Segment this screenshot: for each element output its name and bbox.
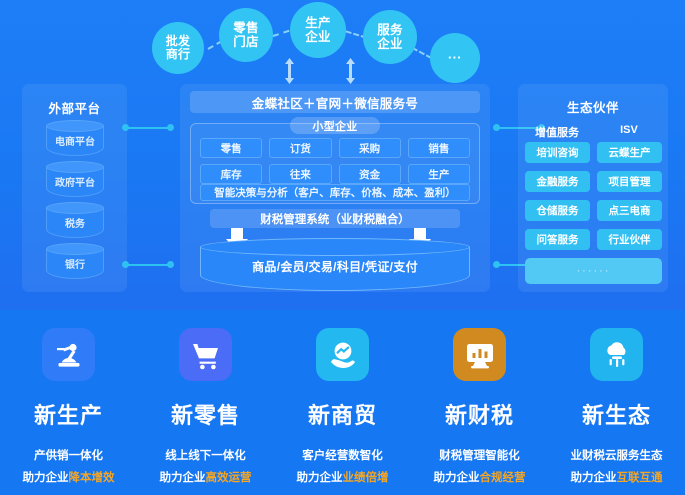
community-header-bar[interactable]: 金蝶社区＋官网＋微信服务号 xyxy=(190,91,480,113)
card-title: 新财税 xyxy=(445,398,514,430)
platform-item-tax[interactable]: 税务 xyxy=(46,202,104,242)
card-subtitle-2-highlight: 降本增效 xyxy=(69,472,115,484)
card-subtitle-2: 助力企业合规经营 xyxy=(434,469,526,485)
card-title: 新商贸 xyxy=(308,398,377,430)
partner-warehouse-service[interactable]: 仓储服务 xyxy=(525,200,590,221)
external-platform-title: 外部平台 xyxy=(22,98,127,117)
card-new-production[interactable]: 新生产 产供销一体化 助力企业降本增效 xyxy=(0,310,137,495)
column-header-isv: ISV xyxy=(594,124,664,136)
card-subtitle-2-prefix: 助力企业 xyxy=(160,472,206,484)
module-grid: 零售 订货 采购 销售 库存 往来 资金 生产 xyxy=(200,138,470,184)
card-new-finance-tax[interactable]: 新财税 财税管理智能化 助力企业合规经营 xyxy=(411,310,548,495)
partner-qa-service[interactable]: 问答服务 xyxy=(525,229,590,250)
isv-yundie-production[interactable]: 云蝶生产 xyxy=(597,142,662,163)
finance-tax-system-label: 财税管理系统（业财税融合） xyxy=(260,211,410,227)
architecture-diagram: 批发 商行 零售 门店 生产 企业 服务 企业 ··· xyxy=(0,0,685,310)
bubble-more[interactable]: ··· xyxy=(430,33,480,83)
card-subtitle-2-prefix: 助力企业 xyxy=(571,472,617,484)
connector-line xyxy=(126,264,170,266)
card-subtitle-2-prefix: 助力企业 xyxy=(297,472,343,484)
isv-industry-partner[interactable]: 行业伙伴 xyxy=(597,229,662,250)
card-subtitle-1: 线上线下一体化 xyxy=(165,447,246,463)
module-order[interactable]: 订货 xyxy=(269,138,331,158)
card-subtitle-2: 助力企业互联互通 xyxy=(571,469,663,485)
connector-line xyxy=(126,127,170,129)
card-subtitle-2-prefix: 助力企业 xyxy=(23,472,69,484)
data-cylinder-label: 商品/会员/交易/科目/凭证/支付 xyxy=(200,238,470,294)
partner-training-consulting[interactable]: 培训咨询 xyxy=(525,142,590,163)
trade-chart-hand-icon xyxy=(327,339,359,371)
partner-more-label: ······ xyxy=(577,265,611,277)
finance-tax-system-bar[interactable]: 财税管理系统（业财税融合） xyxy=(210,209,460,228)
module-production[interactable]: 生产 xyxy=(408,164,470,184)
module-purchase[interactable]: 采购 xyxy=(339,138,401,158)
bubble-line: 零售 xyxy=(233,21,259,35)
monitor-bar-chart-icon xyxy=(464,339,496,371)
card-new-ecology[interactable]: 新生态 业财税云服务生态 助力企业互联互通 xyxy=(548,310,685,495)
card-subtitle-1: 财税管理智能化 xyxy=(439,447,520,463)
card-subtitle-1: 产供销一体化 xyxy=(34,447,103,463)
card-subtitle-2-highlight: 互联互通 xyxy=(617,472,663,484)
connector-dot xyxy=(167,124,174,131)
connector-left-top xyxy=(122,124,174,131)
card-title: 新生产 xyxy=(34,398,103,430)
bubble-line: ··· xyxy=(448,51,462,66)
platform-item-label: 银行 xyxy=(46,243,104,283)
shopping-cart-icon-tile xyxy=(179,328,232,381)
bubble-line: 生产 xyxy=(305,16,331,30)
module-retail[interactable]: 零售 xyxy=(200,138,262,158)
bubble-line: 服务 xyxy=(377,23,403,37)
module-inventory[interactable]: 库存 xyxy=(200,164,262,184)
monitor-bar-chart-icon-tile xyxy=(453,328,506,381)
card-new-retail[interactable]: 新零售 线上线下一体化 助力企业高效运营 xyxy=(137,310,274,495)
card-subtitle-1: 业财税云服务生态 xyxy=(571,447,663,463)
bubble-line: 门店 xyxy=(233,35,259,49)
card-subtitle-2-highlight: 业绩倍增 xyxy=(343,472,389,484)
community-header-label: 金蝶社区＋官网＋微信服务号 xyxy=(252,93,418,112)
connector-dot xyxy=(122,124,129,131)
partner-more-pill[interactable]: ······ xyxy=(525,258,662,284)
small-enterprise-pill: 小型企业 xyxy=(290,117,380,134)
card-subtitle-2: 助力企业业绩倍增 xyxy=(297,469,389,485)
card-title: 新生态 xyxy=(582,398,651,430)
connector-dot xyxy=(493,124,500,131)
cloud-network-icon-tile xyxy=(590,328,643,381)
card-new-trade[interactable]: 新商贸 客户经营数智化 助力企业业绩倍增 xyxy=(274,310,411,495)
isv-project-management[interactable]: 项目管理 xyxy=(597,171,662,192)
module-transactions[interactable]: 往来 xyxy=(269,164,331,184)
bubble-line: 企业 xyxy=(377,37,403,51)
platform-item-bank[interactable]: 银行 xyxy=(46,243,104,283)
smart-analysis-bar[interactable]: 智能决策与分析（客户、库存、价格、成本、盈利） xyxy=(200,184,470,201)
card-subtitle-1: 客户经营数智化 xyxy=(302,447,383,463)
bubble-line: 商行 xyxy=(166,48,191,61)
bubble-production-enterprise[interactable]: 生产 企业 xyxy=(290,2,346,58)
column-header-value-added: 增值服务 xyxy=(522,124,592,140)
card-subtitle-2: 助力企业降本增效 xyxy=(23,469,115,485)
bubble-service-enterprise[interactable]: 服务 企业 xyxy=(363,10,417,64)
connector-left-bottom xyxy=(122,261,174,268)
updown-arrow-left xyxy=(284,58,295,84)
bubble-line: 企业 xyxy=(305,30,331,44)
bubble-wholesale[interactable]: 批发 商行 xyxy=(152,22,204,74)
bubble-retail-store[interactable]: 零售 门店 xyxy=(219,8,273,62)
robot-arm-icon-tile xyxy=(42,328,95,381)
card-subtitle-2-highlight: 高效运营 xyxy=(206,472,252,484)
shopping-cart-icon xyxy=(190,339,222,371)
platform-item-government[interactable]: 政府平台 xyxy=(46,161,104,201)
partner-financial-service[interactable]: 金融服务 xyxy=(525,171,590,192)
card-subtitle-2-highlight: 合规经营 xyxy=(480,472,526,484)
card-title: 新零售 xyxy=(171,398,240,430)
platform-item-ecommerce[interactable]: 电商平台 xyxy=(46,120,104,160)
updown-arrow-right xyxy=(345,58,356,84)
isv-diansan-ecommerce[interactable]: 点三电商 xyxy=(597,200,662,221)
module-sales[interactable]: 销售 xyxy=(408,138,470,158)
feature-cards-section: 新生产 产供销一体化 助力企业降本增效 新零售 线上线下一体化 助力企业高效运营 xyxy=(0,310,685,495)
card-subtitle-2: 助力企业高效运营 xyxy=(160,469,252,485)
connector-dot xyxy=(122,261,129,268)
card-subtitle-2-prefix: 助力企业 xyxy=(434,472,480,484)
small-enterprise-label: 小型企业 xyxy=(312,118,357,134)
connector-dot xyxy=(493,261,500,268)
infographic-root: 批发 商行 零售 门店 生产 企业 服务 企业 ··· xyxy=(0,0,685,495)
trade-chart-hand-icon-tile xyxy=(316,328,369,381)
data-cylinder[interactable]: 商品/会员/交易/科目/凭证/支付 xyxy=(200,238,470,294)
module-funds[interactable]: 资金 xyxy=(339,164,401,184)
connector-dot xyxy=(167,261,174,268)
platform-item-label: 税务 xyxy=(46,202,104,242)
platform-item-label: 电商平台 xyxy=(46,120,104,160)
cloud-network-icon xyxy=(601,339,633,371)
bubble-line: 批发 xyxy=(166,35,191,48)
robot-arm-icon xyxy=(53,339,85,371)
smart-analysis-label: 智能决策与分析（客户、库存、价格、成本、盈利） xyxy=(214,185,456,200)
ecosystem-partner-title: 生态伙伴 xyxy=(518,97,668,116)
platform-item-label: 政府平台 xyxy=(46,161,104,201)
